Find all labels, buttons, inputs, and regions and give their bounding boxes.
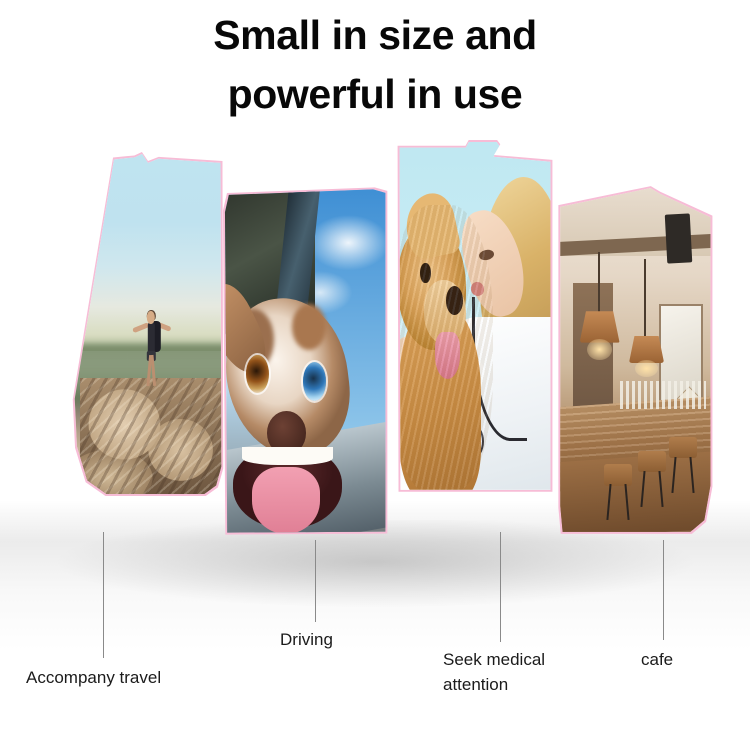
stool-seat [638, 451, 666, 472]
page-title: Small in size and powerful in use [0, 14, 750, 117]
panel-image-clip [558, 186, 712, 534]
stool-leg [625, 484, 630, 520]
bar-stool [604, 464, 632, 520]
dog-teeth [242, 447, 332, 465]
dog-fur-patch [292, 304, 326, 350]
stool-seat [604, 464, 632, 485]
stool-leg [689, 457, 694, 493]
pendant-lamp-cord [598, 252, 600, 315]
leader-line-seek-medical-attention [500, 532, 501, 642]
stool-leg [607, 484, 612, 520]
dog-left-eye [246, 355, 269, 393]
scene-cafe-interior [558, 186, 712, 534]
pendant-lamp-glow [635, 360, 658, 377]
collage-panel-seek-medical-attention[interactable] [396, 140, 554, 496]
pendant-lamp-cord [644, 259, 646, 336]
panel-image-clip [224, 188, 386, 534]
caption-seek-medical-attention: Seek medical attention [443, 648, 573, 697]
bar-stool [669, 437, 697, 493]
summit-rock [80, 378, 222, 494]
scene-veterinarian-with-dog [398, 142, 552, 494]
stool-leg [640, 471, 645, 507]
panel-border-frame [222, 186, 388, 536]
panel-image-clip [398, 142, 552, 494]
leader-line-cafe [663, 540, 664, 640]
collage-shadow-ellipse [0, 520, 750, 640]
collage-panel-driving[interactable] [222, 186, 388, 536]
scene-hiker-on-mountain-summit [74, 154, 222, 494]
bar-stool [638, 451, 666, 507]
hiker-head [147, 311, 155, 324]
dog-tongue [252, 467, 320, 534]
panel-image-clip [74, 154, 222, 494]
caption-driving: Driving [280, 628, 333, 653]
leader-line-driving [315, 540, 316, 622]
leader-line-accompany-travel [103, 532, 104, 658]
page-title-line-2: powerful in use [0, 73, 750, 116]
pendant-lamp-shade [580, 311, 620, 342]
panel-border-frame [72, 152, 224, 496]
caption-cafe: cafe [641, 648, 673, 673]
poster-canvas: Small in size and powerful in use [0, 0, 750, 750]
collage-panel-cafe[interactable] [556, 184, 714, 536]
stool-leg [671, 457, 676, 493]
hiker-figure [129, 302, 173, 387]
wall-speaker [665, 213, 692, 263]
collage-panel-accompany-travel[interactable] [72, 152, 224, 496]
chihuahua-figure [224, 278, 373, 534]
stool-leg [658, 471, 663, 507]
hiker-left-arm [132, 322, 150, 333]
golden-dog-figure [398, 205, 493, 494]
glassware-row [620, 381, 706, 409]
panel-border-frame [556, 184, 714, 536]
page-title-line-1: Small in size and [213, 12, 537, 58]
pendant-lamp-glow [587, 339, 612, 360]
scene-chihuahua-in-car-window [224, 188, 386, 534]
caption-accompany-travel: Accompany travel [26, 666, 161, 691]
dog-fur-texture [398, 205, 493, 494]
panel-border-frame [396, 140, 554, 496]
stool-seat [669, 437, 697, 458]
